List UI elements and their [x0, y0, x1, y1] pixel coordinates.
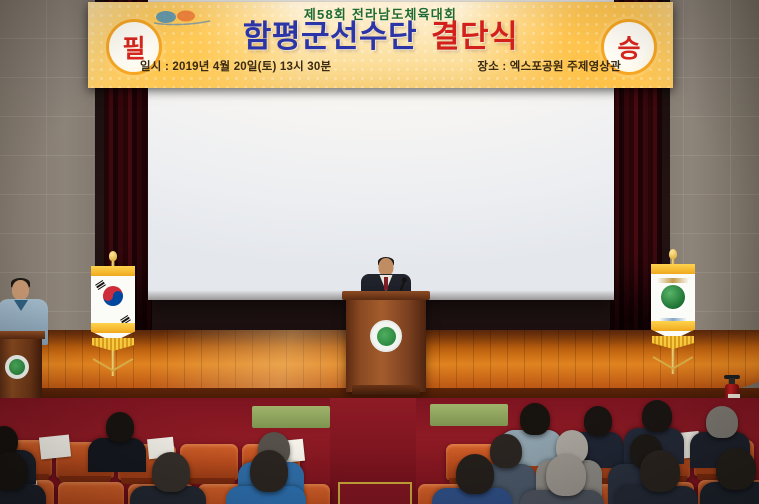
- attendee-head: [584, 406, 612, 436]
- side-podium-emblem-icon: [5, 355, 29, 379]
- row-end-panel-right: [430, 404, 508, 426]
- attendee-head: [490, 434, 522, 468]
- trigram-geon: [95, 280, 106, 290]
- attendee-head: [706, 406, 738, 438]
- county-emblem-icon: [661, 285, 685, 309]
- attendee-head: [642, 400, 672, 432]
- flag-fringe-left: [92, 338, 134, 351]
- podium-emblem-inner: [377, 327, 396, 346]
- audience-area: [0, 398, 759, 504]
- banner-place: 장소 : 엑스포공원 주제영상관: [477, 58, 621, 74]
- attendee-head: [152, 452, 190, 492]
- row-end-panel-left: [252, 406, 330, 428]
- flag-cloth-korea: [91, 266, 135, 342]
- flag-finial-right: [669, 249, 677, 259]
- auditorium-photo: 필 승 제58회 전라남도체육대회 함평군선수단결단식 일시 : 2019년 4…: [0, 0, 759, 504]
- flag-finial-left: [109, 251, 117, 261]
- banner-details: 일시 : 2019년 4월 20일(토) 13시 30분 장소 : 엑스포공원 …: [140, 58, 621, 74]
- taeguk-symbol: [103, 286, 123, 306]
- podium-county-emblem-icon: [370, 320, 402, 352]
- flag-stand-right: [650, 368, 696, 388]
- seat: [58, 482, 124, 504]
- side-podium-emblem-inner: [9, 359, 25, 375]
- podium-base: [352, 385, 420, 395]
- flag-top-band-left: [91, 266, 135, 276]
- attendee-head: [106, 412, 134, 442]
- aisle-step: [338, 482, 412, 504]
- korean-national-flag: [88, 258, 138, 398]
- flag-stand-left: [90, 370, 136, 390]
- event-banner: 필 승 제58회 전라남도체육대회 함평군선수단결단식 일시 : 2019년 4…: [88, 2, 673, 88]
- banner-title-delegation: 함평군선수단: [243, 19, 417, 54]
- attendee-head: [546, 454, 586, 496]
- speaker-tie: [384, 277, 388, 290]
- attendee-head: [640, 450, 680, 492]
- side-podium-top: [0, 331, 45, 339]
- flag-bottom-band-left: [91, 323, 135, 333]
- attendee-head: [456, 454, 494, 494]
- attendee-head: [716, 448, 756, 490]
- banner-title-ceremony: 결단식: [431, 19, 518, 54]
- county-flag-top-lettering: [657, 278, 689, 283]
- side-podium: [0, 337, 42, 403]
- attendant-head: [12, 280, 29, 300]
- attendee-shoulders: [88, 438, 146, 472]
- podium-lectern-top: [342, 291, 430, 300]
- banner-main-title: 함평군선수단결단식: [88, 19, 673, 55]
- hampyeong-county-flag: [648, 256, 698, 396]
- banner-date: 일시 : 2019년 4월 20일(토) 13시 30분: [140, 58, 331, 74]
- flag-bottom-band-right: [651, 321, 695, 331]
- program-paper: [39, 434, 71, 459]
- main-podium: [346, 298, 426, 392]
- flag-cloth-county: [651, 264, 695, 340]
- flag-top-band-right: [651, 264, 695, 274]
- flag-fringe-right: [652, 336, 694, 349]
- attendee-head: [250, 450, 288, 492]
- attendee-head: [520, 403, 550, 435]
